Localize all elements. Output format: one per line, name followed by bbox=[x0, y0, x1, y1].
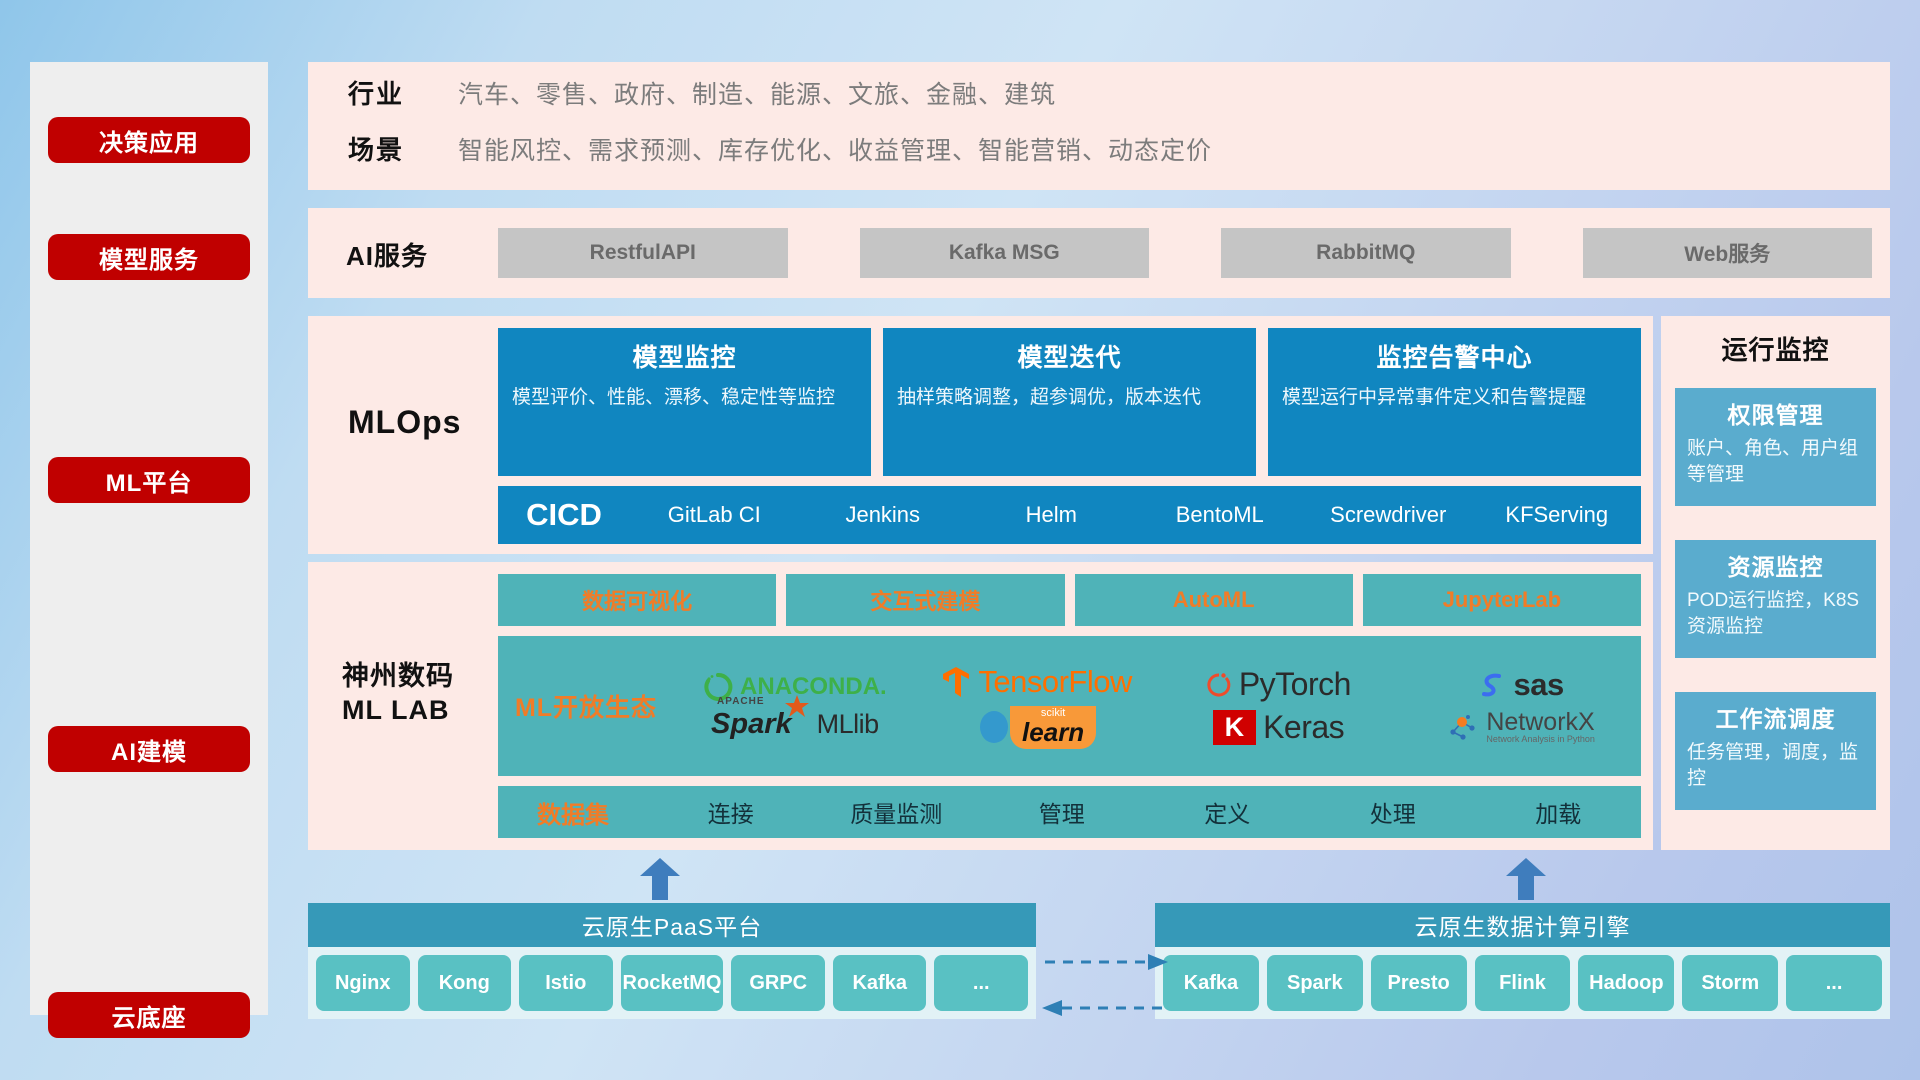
tensorflow-icon bbox=[941, 665, 971, 699]
sidebar-item-model-service[interactable]: 模型服务 bbox=[48, 234, 250, 280]
dataset-label: 数据集 bbox=[498, 795, 648, 830]
mlops-card-alert-center[interactable]: 监控告警中心 模型运行中异常事件定义和告警提醒 bbox=[1268, 328, 1641, 476]
ai-service-label: AI服务 bbox=[346, 236, 428, 273]
layer-rail: 决策应用 模型服务 ML平台 AI建模 云底座 bbox=[30, 62, 268, 1015]
cloud-data-engine-chips: Kafka Spark Presto Flink Hadoop Storm ..… bbox=[1155, 947, 1890, 1019]
cicd-label: CICD bbox=[498, 497, 630, 533]
card-desc: POD运行监控，K8S资源监控 bbox=[1687, 588, 1864, 639]
logo-col-4: sas NetworkX Network bbox=[1399, 636, 1641, 776]
cloud-chip-flink[interactable]: Flink bbox=[1475, 955, 1571, 1011]
spark-wordmark: APACHE Spark bbox=[711, 708, 792, 741]
pytorch-icon bbox=[1206, 670, 1232, 700]
dataset-item-process[interactable]: 处理 bbox=[1310, 795, 1476, 829]
card-title: 监控告警中心 bbox=[1282, 338, 1627, 374]
mlops-cards: 模型监控 模型评价、性能、漂移、稳定性等监控 模型迭代 抽样策略调整，超参调优，… bbox=[498, 328, 1641, 476]
dataset-item-manage[interactable]: 管理 bbox=[979, 795, 1145, 829]
sidebar-item-ai-modeling[interactable]: AI建模 bbox=[48, 726, 250, 772]
keras-logo: K Keras bbox=[1213, 709, 1345, 746]
scikit-learn-badge: scikit learn bbox=[1010, 706, 1096, 749]
cicd-item-helm[interactable]: Helm bbox=[967, 504, 1136, 526]
cloud-chip-more[interactable]: ... bbox=[934, 955, 1028, 1011]
ml-lab-panel: 神州数码 ML LAB 数据可视化 交互式建模 AutoML JupyterLa… bbox=[308, 562, 1653, 850]
card-desc: 模型评价、性能、漂移、稳定性等监控 bbox=[512, 384, 857, 412]
scenario-label: 场景 bbox=[348, 130, 458, 167]
scenario-values: 智能风控、需求预测、库存优化、收益管理、智能营销、动态定价 bbox=[458, 131, 1212, 167]
networkx-wordmark: NetworkX Network Analysis in Python bbox=[1486, 709, 1595, 745]
mllib-label: MLlib bbox=[817, 709, 879, 740]
ml-lab-label: 神州数码 ML LAB bbox=[342, 660, 492, 728]
card-title: 模型迭代 bbox=[897, 338, 1242, 374]
dataset-item-connect[interactable]: 连接 bbox=[648, 795, 814, 829]
scikit-blue-blob-icon bbox=[977, 710, 1011, 744]
card-desc: 模型运行中异常事件定义和告警提醒 bbox=[1282, 384, 1627, 412]
mlops-label: MLOps bbox=[348, 404, 461, 441]
card-title: 模型监控 bbox=[512, 338, 857, 374]
tool-automl[interactable]: AutoML bbox=[1075, 574, 1353, 626]
tool-jupyterlab[interactable]: JupyterLab bbox=[1363, 574, 1641, 626]
mlops-card-model-monitoring[interactable]: 模型监控 模型评价、性能、漂移、稳定性等监控 bbox=[498, 328, 871, 476]
spark-apache-label: APACHE bbox=[717, 696, 764, 707]
sidebar-item-label: 模型服务 bbox=[99, 240, 199, 275]
monitor-card-permission[interactable]: 权限管理 账户、角色、用户组等管理 bbox=[1675, 388, 1876, 506]
industry-values: 汽车、零售、政府、制造、能源、文旅、金融、建筑 bbox=[458, 75, 1056, 111]
monitor-card-resource[interactable]: 资源监控 POD运行监控，K8S资源监控 bbox=[1675, 540, 1876, 658]
sidebar-item-cloud-foundation[interactable]: 云底座 bbox=[48, 992, 250, 1038]
cicd-bar: CICD GitLab CI Jenkins Helm BentoML Scre… bbox=[498, 486, 1641, 544]
ml-lab-label-line1: 神州数码 bbox=[342, 660, 492, 694]
sidebar-item-label: ML平台 bbox=[106, 463, 193, 498]
learn-label: learn bbox=[1022, 719, 1084, 745]
spark-mllib-logo: APACHE Spark MLlib bbox=[711, 708, 879, 741]
ml-lab-label-line2: ML LAB bbox=[342, 694, 492, 728]
dataset-bar: 数据集 连接 质量监测 管理 定义 处理 加载 bbox=[498, 786, 1641, 838]
ml-ecosystem-label: ML开放生态 bbox=[498, 688, 674, 724]
scenario-row: 场景 智能风控、需求预测、库存优化、收益管理、智能营销、动态定价 bbox=[348, 130, 1212, 167]
spark-label: Spark bbox=[711, 708, 792, 740]
pytorch-logo: PyTorch bbox=[1206, 666, 1351, 703]
scikit-learn-logo: scikit learn bbox=[977, 706, 1096, 749]
card-desc: 抽样策略调整，超参调优，版本迭代 bbox=[897, 384, 1242, 412]
cloud-chip-presto[interactable]: Presto bbox=[1371, 955, 1467, 1011]
card-desc: 任务管理，调度，监控 bbox=[1687, 740, 1864, 791]
cloud-chip-nginx[interactable]: Nginx bbox=[316, 955, 410, 1011]
dataset-item-quality-monitor[interactable]: 质量监测 bbox=[814, 795, 980, 829]
ai-service-box-kafka-msg[interactable]: Kafka MSG bbox=[860, 228, 1150, 278]
sas-icon bbox=[1477, 670, 1507, 700]
networkx-logo: NetworkX Network Analysis in Python bbox=[1445, 709, 1595, 745]
ml-ecosystem-logos: ANACONDA. APACHE Spark MLlib bbox=[674, 636, 1641, 776]
decision-apps-panel: 行业 汽车、零售、政府、制造、能源、文旅、金融、建筑 场景 智能风控、需求预测、… bbox=[308, 62, 1890, 190]
arrow-shaft bbox=[1518, 872, 1534, 900]
ml-ecosystem-band: ML开放生态 ANACONDA. APACHE Spark bbox=[498, 636, 1641, 776]
networkx-label: NetworkX bbox=[1486, 709, 1595, 735]
card-title: 资源监控 bbox=[1687, 548, 1864, 582]
ai-service-items: RestfulAPI Kafka MSG RabbitMQ Web服务 bbox=[498, 228, 1872, 278]
sas-label: sas bbox=[1514, 667, 1564, 703]
keras-k-icon: K bbox=[1213, 710, 1257, 745]
cicd-item-gitlab-ci[interactable]: GitLab CI bbox=[630, 504, 799, 526]
cloud-chip-storm[interactable]: Storm bbox=[1682, 955, 1778, 1011]
networkx-sublabel: Network Analysis in Python bbox=[1486, 735, 1595, 744]
spark-star-icon bbox=[784, 694, 810, 720]
card-title: 权限管理 bbox=[1687, 396, 1864, 430]
cicd-item-kfserving[interactable]: KFServing bbox=[1473, 504, 1642, 526]
industry-label: 行业 bbox=[348, 74, 458, 111]
ai-service-box-rabbitmq[interactable]: RabbitMQ bbox=[1221, 228, 1511, 278]
ai-service-box-restfulapi[interactable]: RestfulAPI bbox=[498, 228, 788, 278]
pytorch-label: PyTorch bbox=[1239, 666, 1351, 703]
cloud-data-engine-group: 云原生数据计算引擎 Kafka Spark Presto Flink Hadoo… bbox=[1155, 903, 1890, 1019]
cicd-item-jenkins[interactable]: Jenkins bbox=[799, 504, 968, 526]
tool-data-visualization[interactable]: 数据可视化 bbox=[498, 574, 776, 626]
cloud-chip-grpc[interactable]: GRPC bbox=[731, 955, 825, 1011]
cloud-chip-kafka[interactable]: Kafka bbox=[1163, 955, 1259, 1011]
cloud-chip-istio[interactable]: Istio bbox=[519, 955, 613, 1011]
cloud-paas-title: 云原生PaaS平台 bbox=[308, 903, 1036, 947]
dataset-item-load[interactable]: 加载 bbox=[1476, 795, 1642, 829]
up-arrow-data-engine-icon bbox=[1506, 858, 1546, 900]
industry-row: 行业 汽车、零售、政府、制造、能源、文旅、金融、建筑 bbox=[348, 74, 1056, 111]
card-desc: 账户、角色、用户组等管理 bbox=[1687, 436, 1864, 487]
keras-label: Keras bbox=[1263, 709, 1344, 746]
sas-logo: sas bbox=[1477, 667, 1564, 703]
sidebar-item-label: 决策应用 bbox=[99, 123, 199, 158]
cloud-data-engine-title: 云原生数据计算引擎 bbox=[1155, 903, 1890, 947]
monitor-card-workflow[interactable]: 工作流调度 任务管理，调度，监控 bbox=[1675, 692, 1876, 810]
logo-col-2: TensorFlow scikit learn bbox=[916, 636, 1158, 776]
cloud-chip-spark[interactable]: Spark bbox=[1267, 955, 1363, 1011]
mlops-card-model-iteration[interactable]: 模型迭代 抽样策略调整，超参调优，版本迭代 bbox=[883, 328, 1256, 476]
cloud-chip-kafka[interactable]: Kafka bbox=[833, 955, 927, 1011]
cloud-chip-rocketmq[interactable]: RocketMQ bbox=[621, 955, 724, 1011]
card-title: 工作流调度 bbox=[1687, 700, 1864, 734]
sidebar-item-label: AI建模 bbox=[111, 732, 187, 767]
ml-tools-row: 数据可视化 交互式建模 AutoML JupyterLab bbox=[498, 574, 1641, 626]
cicd-item-bentoml[interactable]: BentoML bbox=[1136, 504, 1305, 526]
sidebar-item-ml-platform[interactable]: ML平台 bbox=[48, 457, 250, 503]
logo-col-3: PyTorch K Keras bbox=[1158, 636, 1400, 776]
runtime-monitor-panel: 运行监控 权限管理 账户、角色、用户组等管理 资源监控 POD运行监控，K8S资… bbox=[1661, 316, 1890, 850]
cloud-chip-kong[interactable]: Kong bbox=[418, 955, 512, 1011]
up-arrow-paas-icon bbox=[640, 858, 680, 900]
dataset-item-define[interactable]: 定义 bbox=[1145, 795, 1311, 829]
logo-col-1: ANACONDA. APACHE Spark MLlib bbox=[674, 636, 916, 776]
networkx-icon bbox=[1445, 712, 1479, 742]
sidebar-item-label: 云底座 bbox=[112, 998, 187, 1033]
mlops-panel: MLOps 模型监控 模型评价、性能、漂移、稳定性等监控 模型迭代 抽样策略调整… bbox=[308, 316, 1653, 554]
arrow-shaft bbox=[652, 872, 668, 900]
cloud-chip-hadoop[interactable]: Hadoop bbox=[1578, 955, 1674, 1011]
cloud-bidirectional-connector-icon bbox=[1040, 940, 1170, 1030]
tensorflow-label: TensorFlow bbox=[978, 664, 1132, 700]
ai-service-panel: AI服务 RestfulAPI Kafka MSG RabbitMQ Web服务 bbox=[308, 208, 1890, 298]
tensorflow-logo: TensorFlow bbox=[941, 664, 1132, 700]
runtime-monitor-title: 运行监控 bbox=[1661, 330, 1890, 367]
cloud-paas-group: 云原生PaaS平台 Nginx Kong Istio RocketMQ GRPC… bbox=[308, 903, 1036, 1019]
cloud-paas-chips: Nginx Kong Istio RocketMQ GRPC Kafka ... bbox=[308, 947, 1036, 1019]
cloud-chip-more[interactable]: ... bbox=[1786, 955, 1882, 1011]
tool-interactive-modeling[interactable]: 交互式建模 bbox=[786, 574, 1064, 626]
sidebar-item-decision-apps[interactable]: 决策应用 bbox=[48, 117, 250, 163]
ai-service-box-web[interactable]: Web服务 bbox=[1583, 228, 1873, 278]
cicd-item-screwdriver[interactable]: Screwdriver bbox=[1304, 504, 1473, 526]
